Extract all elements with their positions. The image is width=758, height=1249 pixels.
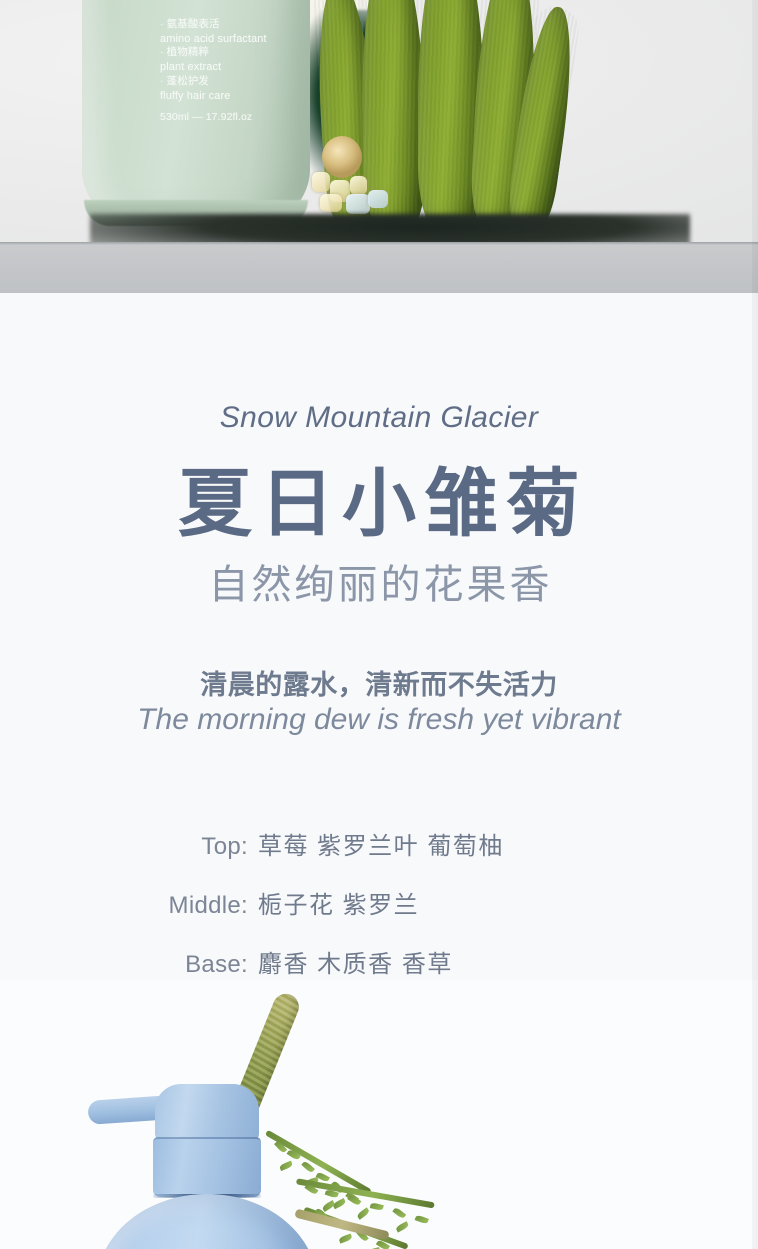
- note-label-middle: Middle:: [150, 892, 258, 920]
- label-line-cn-1: · 氨基酸表活: [160, 18, 310, 32]
- amber-crystal-cluster: [306, 136, 406, 222]
- note-row: Middle: 栀子花 紫罗兰: [150, 885, 630, 920]
- page-title: 夏日小雏菊: [0, 467, 758, 541]
- note-row: Top: 草莓 紫罗兰叶 葡萄柚: [150, 826, 630, 861]
- label-line-cn-2: · 植物精粹: [160, 46, 310, 60]
- note-value-middle: 栀子花 紫罗兰: [258, 885, 419, 920]
- note-row: Base: 麝香 木质香 香草: [150, 944, 630, 979]
- slogan-chinese: 清晨的露水，清新而不失活力: [0, 670, 758, 701]
- label-volume: 530ml — 17.92fl.oz: [160, 111, 310, 125]
- note-label-top: Top:: [150, 833, 258, 861]
- gray-shelf: [0, 245, 758, 293]
- bottom-product-photo: [0, 980, 758, 1249]
- slogan-block: 清晨的露水，清新而不失活力 The morning dew is fresh y…: [0, 670, 758, 738]
- note-value-top: 草莓 紫罗兰叶 葡萄柚: [258, 826, 504, 861]
- hero-product-photo: · 氨基酸表活 amino acid surfactant · 植物精粹 pla…: [0, 0, 758, 293]
- page-right-edge: [752, 0, 758, 1249]
- product-detail-page: · 氨基酸表活 amino acid surfactant · 植物精粹 pla…: [0, 0, 758, 1249]
- label-line-en-3: fluffy hair care: [160, 89, 310, 104]
- pump-collar: [153, 1137, 261, 1197]
- fragrance-notes-list: Top: 草莓 紫罗兰叶 葡萄柚 Middle: 栀子花 紫罗兰 Base: 麝…: [150, 826, 630, 1003]
- label-line-en-1: amino acid surfactant: [160, 32, 310, 47]
- bottle-label-text: · 氨基酸表活 amino acid surfactant · 植物精粹 pla…: [160, 18, 310, 125]
- label-line-cn-3: · 蓬松护发: [160, 75, 310, 89]
- subtitle: 自然绚丽的花果香: [0, 565, 758, 605]
- note-label-base: Base:: [150, 951, 258, 979]
- amber-sphere: [322, 136, 362, 178]
- note-value-base: 麝香 木质香 香草: [258, 944, 453, 979]
- eyebrow-text: Snow Mountain Glacier: [0, 401, 758, 435]
- slogan-english: The morning dew is fresh yet vibrant: [0, 703, 758, 738]
- pump-head: [155, 1084, 259, 1140]
- label-line-en-2: plant extract: [160, 60, 310, 75]
